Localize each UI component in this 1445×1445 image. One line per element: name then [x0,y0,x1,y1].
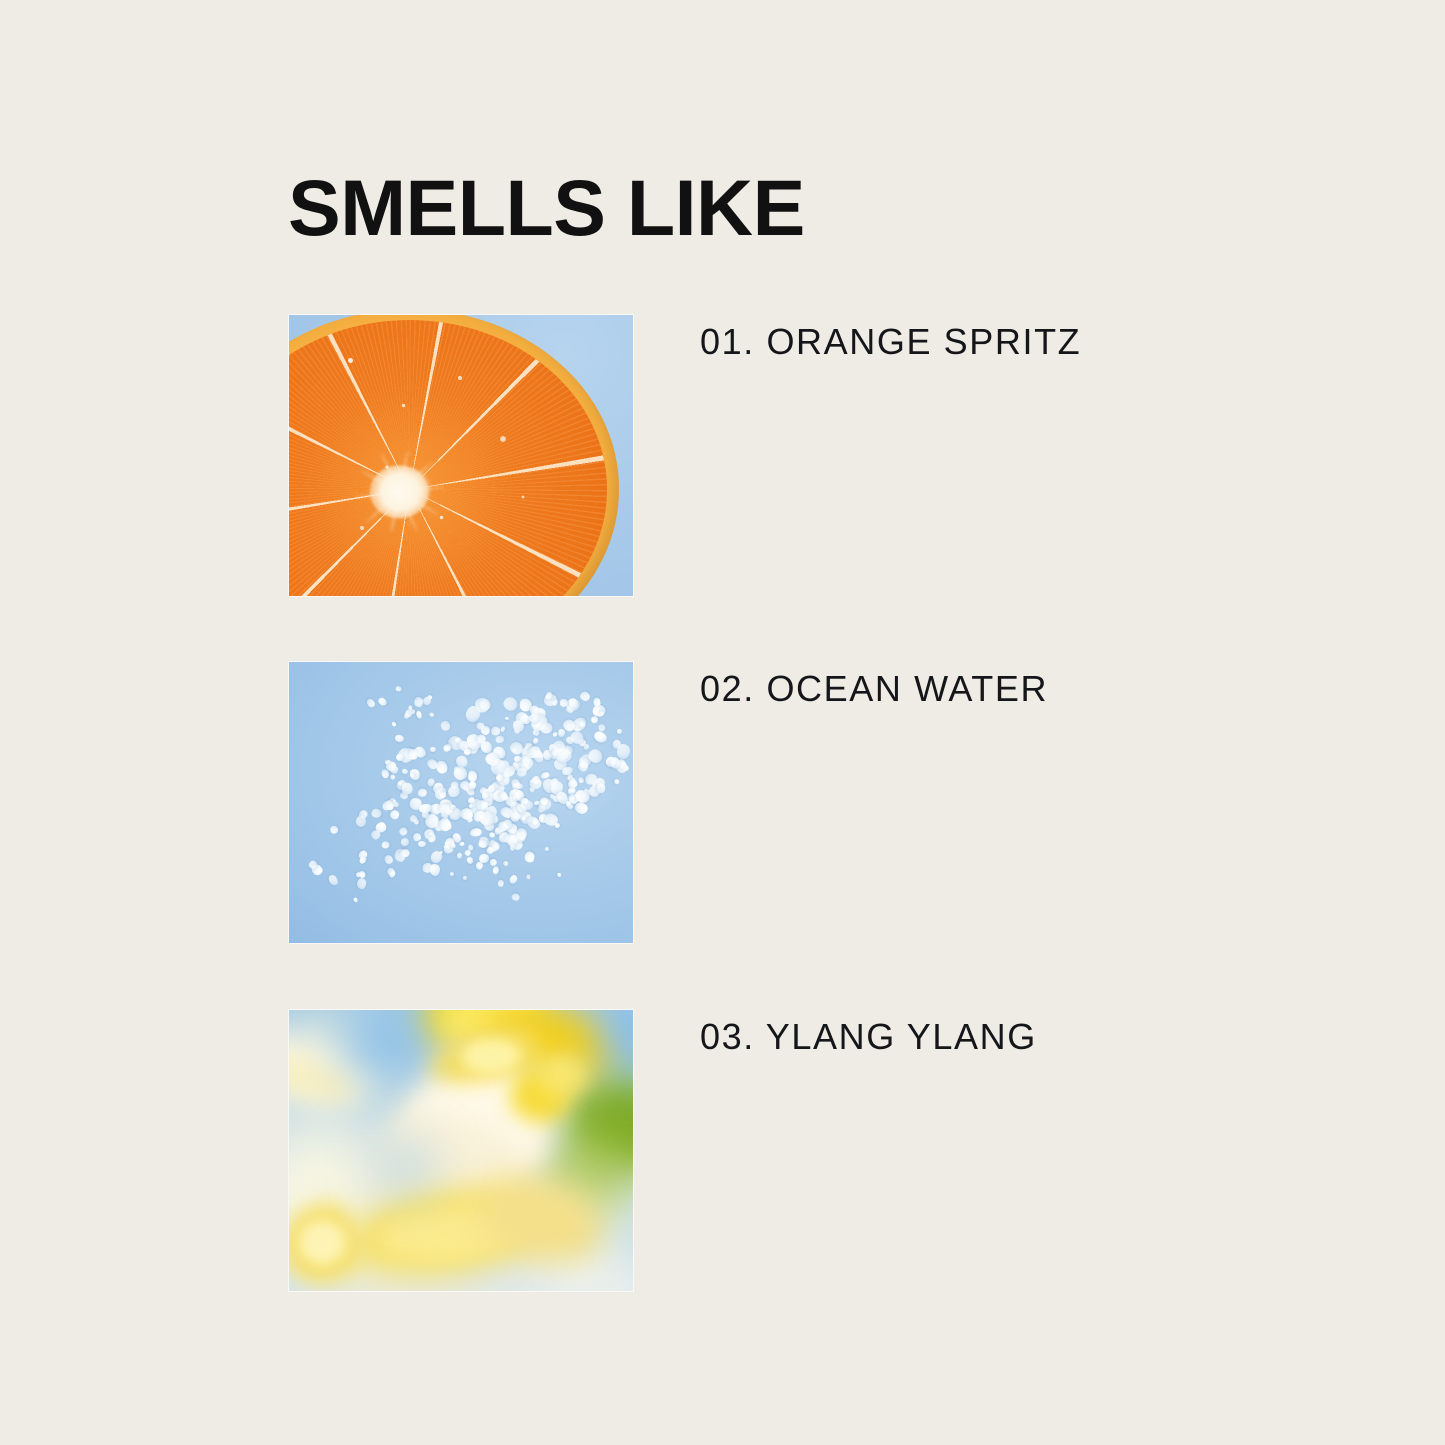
salt-crystal [430,747,436,752]
salt-crystal [399,848,410,858]
salt-crystal [557,728,566,737]
salt-crystal [492,865,500,874]
salt-crystal [579,690,592,702]
salt-crystal [418,841,427,848]
salt-crystal [505,716,510,720]
sea-salt-icon [289,662,633,943]
salt-crystal [510,845,515,851]
salt-crystal [459,842,465,847]
salt-crystal [498,880,504,887]
salt-crystal [468,845,474,852]
salt-crystal [487,846,495,854]
salt-crystal [597,784,606,794]
salt-crystal [371,808,382,818]
note-row-ocean-water: 02. OCEAN WATER [0,662,1445,944]
note-label-ocean-water: 02. OCEAN WATER [700,668,1048,710]
salt-crystal [394,734,404,742]
salt-crystal [365,697,376,708]
salt-crystal [544,846,549,851]
orange-slice-icon [289,315,633,596]
salt-crystal [418,789,427,797]
sky-gap-shape [342,1010,427,1081]
salt-crystal-field [289,662,633,943]
orange-juice-highlights [289,315,633,596]
salt-crystal [356,878,367,890]
salt-crystal [468,780,476,790]
salt-crystal [439,719,452,732]
page-title: SMELLS LIKE [288,168,805,247]
salt-crystal [466,856,474,865]
note-label-orange-spritz: 01. ORANGE SPRITZ [700,321,1081,363]
note-label-ylang-ylang: 03. YLANG YLANG [700,1016,1037,1058]
salt-crystal [397,826,409,837]
salt-crystal [396,686,402,692]
salt-crystal [383,853,395,865]
salt-crystal [488,832,495,839]
salt-crystal [490,725,501,736]
salt-crystal [353,897,359,903]
salt-crystal [593,730,609,744]
salt-crystal [495,735,505,744]
salt-crystal [616,743,631,760]
petal-frill-shape [461,1039,521,1074]
salt-crystal [381,841,389,848]
salt-crystal [512,894,521,902]
salt-crystal [532,737,539,745]
salt-crystal [597,722,606,732]
salt-crystal [525,874,530,880]
salt-crystal [390,774,396,780]
salt-crystal [532,729,541,737]
salt-crystal [469,827,482,837]
salt-crystal [428,837,435,844]
salt-crystal [327,874,339,887]
salt-crystal [414,697,423,707]
salt-crystal [392,721,398,727]
salt-crystal [389,810,400,820]
salt-crystal [509,874,519,885]
salt-crystal [500,725,506,732]
petal-tip-shape [538,1053,589,1095]
salt-crystal [430,863,440,875]
note-row-orange-spritz: 01. ORANGE SPRITZ [0,315,1445,597]
smells-like-panel: SMELLS LIKE 01. ORANGE SPRITZ [0,0,1445,1445]
salt-crystal [463,876,468,881]
salt-crystal [502,860,509,867]
note-image-ylang-ylang [289,1010,633,1291]
salt-crystal [401,768,408,774]
salt-crystal [450,872,455,877]
salt-crystal [523,851,534,863]
salt-crystal [556,873,561,878]
flower-blur-layer [289,1010,633,1291]
salt-crystal [614,779,620,784]
salt-crystal [578,777,584,784]
salt-crystal [475,722,484,730]
note-image-orange-spritz [289,315,633,596]
ylang-ylang-flower-icon [289,1010,633,1291]
petal-curl-shape [299,1220,346,1265]
salt-crystal [617,729,623,735]
salt-crystal [415,710,422,719]
salt-crystal [429,711,436,717]
salt-crystal [501,694,520,712]
salt-crystal [456,852,462,859]
salt-crystal [464,748,472,756]
salt-crystal [377,696,389,707]
salt-crystal [329,825,339,836]
salt-crystal [399,836,410,847]
note-image-ocean-water [289,662,633,943]
note-row-ylang-ylang: 03. YLANG YLANG [0,1010,1445,1292]
salt-crystal [540,722,553,734]
